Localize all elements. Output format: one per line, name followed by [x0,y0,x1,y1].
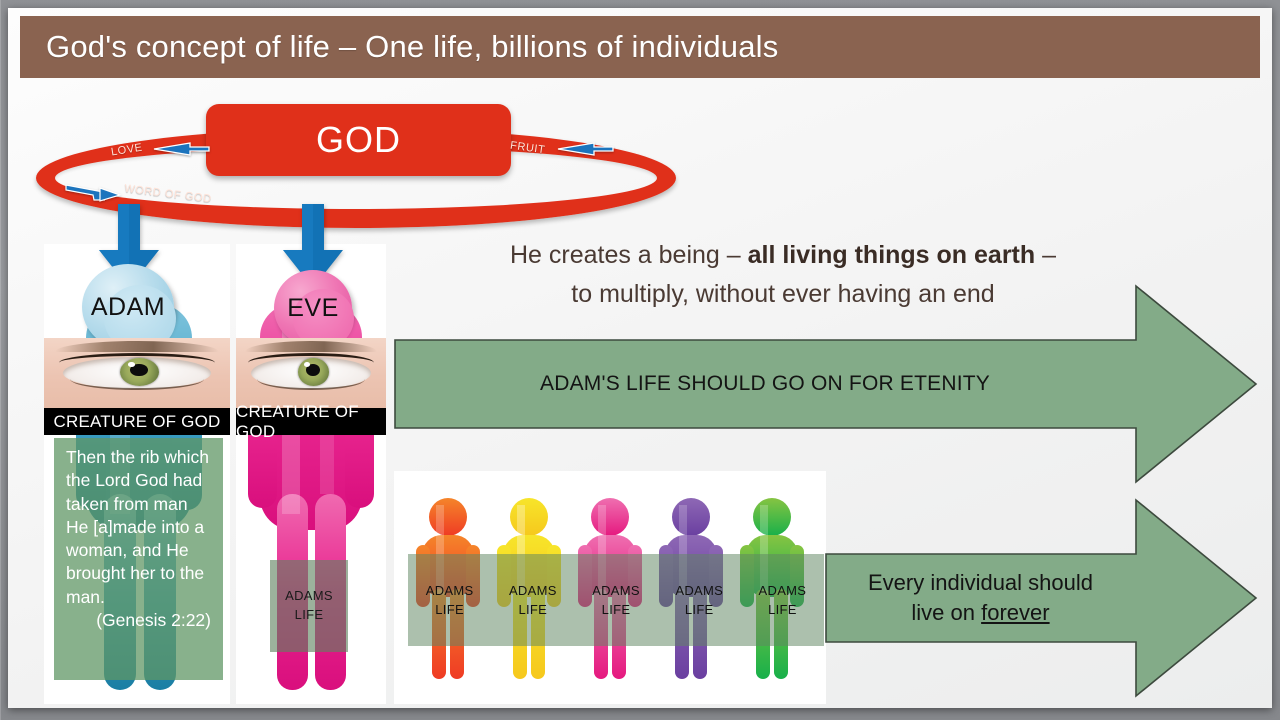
left-arrow-icon [150,140,212,158]
crowd-life-cell-2: ADAMS LIFE [491,554,574,646]
genesis-quote-reference: (Genesis 2:22) [66,609,213,632]
adam-label: ADAM [91,293,165,322]
arrow-forever-line2-prefix: live on [911,600,981,625]
eye-photo-adam [44,338,230,408]
crowd-life-line1-4: ADAMS [675,581,723,601]
crowd-life-overlay: ADAMS LIFE ADAMS LIFE ADAMS LIFE ADAMS L… [408,554,824,646]
crowd-life-line1-5: ADAMS [759,581,807,601]
eve-life-line2: LIFE [295,606,324,625]
page-title: God's concept of life – One life, billio… [20,29,778,65]
eve-label: EVE [287,294,339,323]
god-box: GOD [206,104,511,176]
crowd-life-cell-5: ADAMS LIFE [741,554,824,646]
eve-life-overlay: ADAMS LIFE [270,560,348,652]
left-arrow-icon-2 [548,140,616,158]
god-label: GOD [316,119,401,161]
crowd-life-cell-3: ADAMS LIFE [574,554,657,646]
arrow-forever-label: Every individual should live on forever [825,550,1136,646]
eve-life-line1: ADAMS [285,587,333,606]
arrow-eternity-label: ADAM'S LIFE SHOULD GO ON FOR ETENITY [394,340,1136,428]
adam-caption-text: CREATURE OF GOD [53,412,220,432]
adam-caption-banner: CREATURE OF GOD [44,408,230,435]
main-statement-line1-prefix: He creates a being – [510,241,748,269]
eve-head: EVE [274,270,352,346]
crowd-life-cell-4: ADAMS LIFE [658,554,741,646]
crowd-life-line1-2: ADAMS [509,581,557,601]
slide-title-bar: God's concept of life – One life, billio… [20,16,1260,78]
eye-photo-eve [236,338,386,408]
crowd-life-line1-1: ADAMS [426,581,474,601]
crowd-life-line2-1: LIFE [435,600,464,620]
genesis-quote-text: Then the rib which the Lord God had take… [66,447,209,607]
right-arrow-icon [64,182,126,202]
main-statement-line1: He creates a being – all living things o… [438,236,1128,275]
crowd-life-line2-2: LIFE [518,600,547,620]
arrow-forever-underlined: forever [981,600,1049,625]
genesis-quote-overlay: Then the rib which the Lord God had take… [54,438,223,680]
main-statement-line1-suffix: – [1035,241,1056,269]
arrow-forever-line1: Every individual should [868,568,1093,598]
crowd-life-line2-3: LIFE [602,600,631,620]
arrow-forever: Every individual should live on forever [825,492,1260,704]
crowd-life-line1-3: ADAMS [592,581,640,601]
crowd-life-line2-5: LIFE [768,600,797,620]
slide: God's concept of life – One life, billio… [8,8,1272,708]
arrow-forever-line2: live on forever [911,598,1049,628]
eve-caption-text: CREATURE OF GOD [236,402,386,442]
arrow-eternity: ADAM'S LIFE SHOULD GO ON FOR ETENITY [394,278,1260,490]
crowd-life-cell-1: ADAMS LIFE [408,554,491,646]
crowd-life-line2-4: LIFE [685,600,714,620]
main-statement-emphasis: all living things on earth [748,241,1036,269]
eve-caption-banner: CREATURE OF GOD [236,408,386,435]
